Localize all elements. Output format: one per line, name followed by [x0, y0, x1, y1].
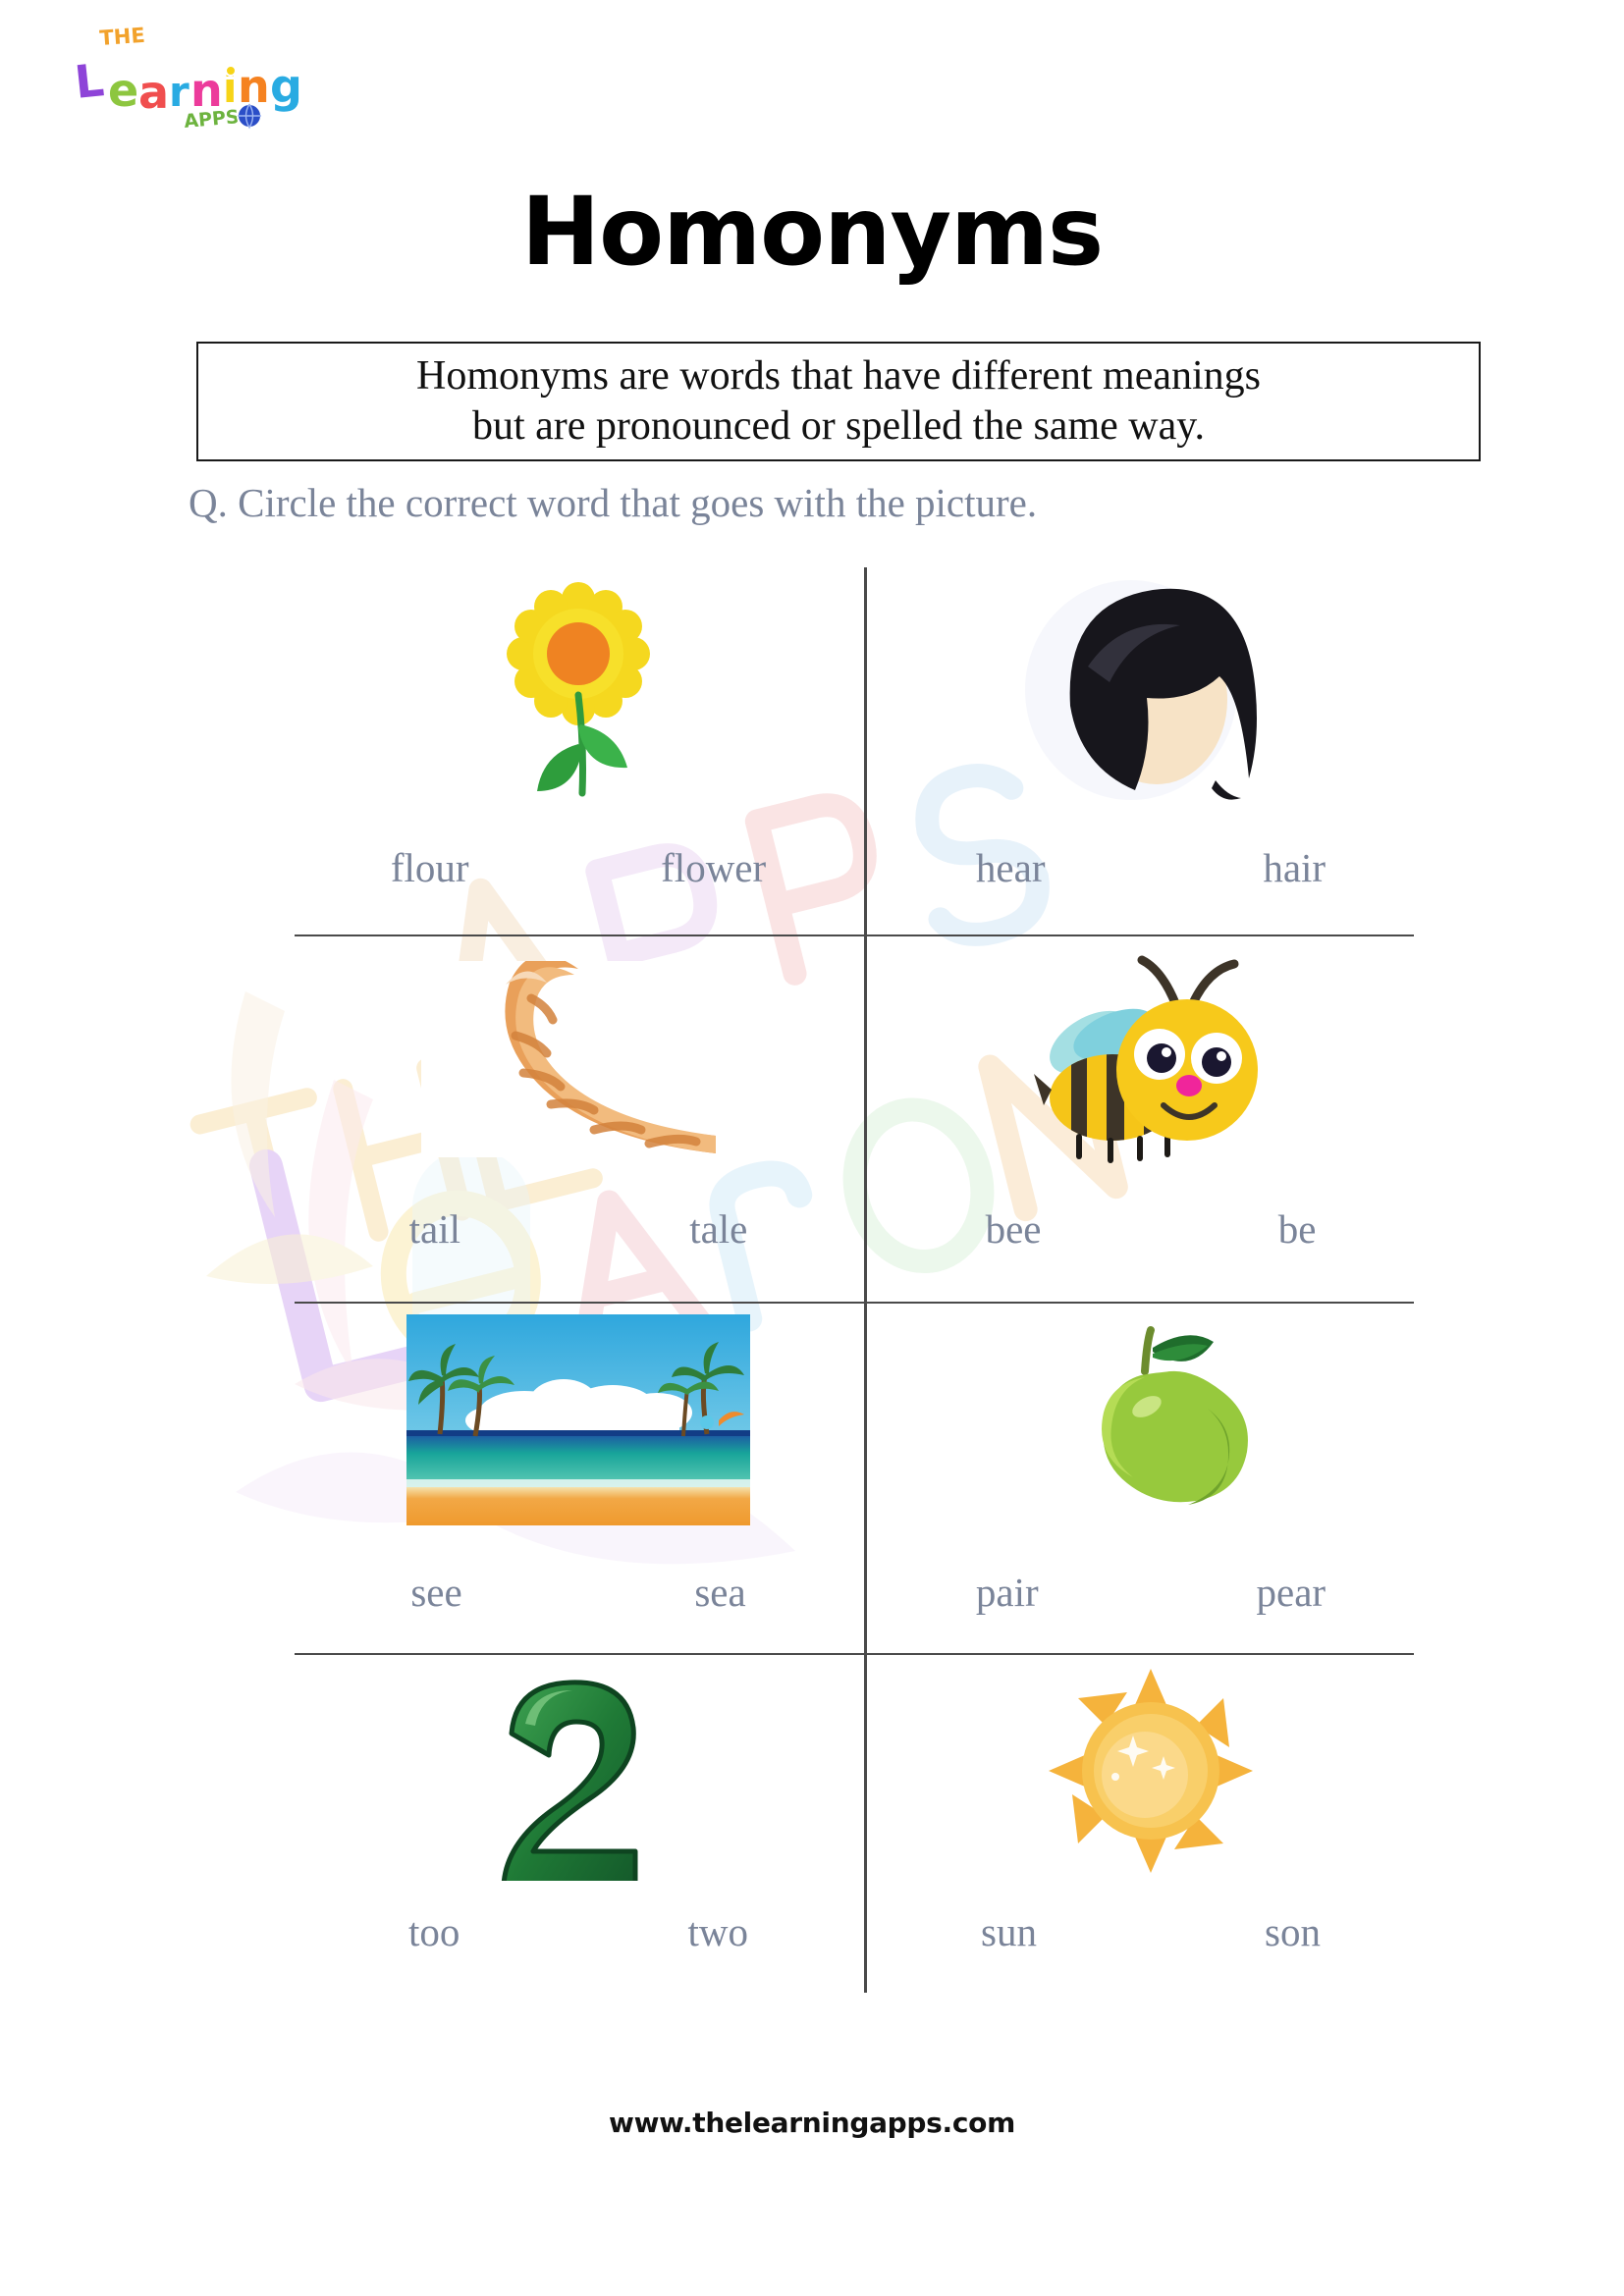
cell-word-options: too two: [295, 1906, 862, 1957]
svg-text:L: L: [73, 53, 107, 109]
word-option[interactable]: flour: [381, 842, 479, 893]
cell-artwork: [295, 942, 862, 1176]
tail-icon: [421, 961, 735, 1157]
logo-apps-text: APPS: [184, 106, 241, 133]
definition-line-1: Homonyms are words that have different m…: [416, 351, 1261, 401]
word-option[interactable]: sun: [971, 1906, 1047, 1957]
cell-word-options: see sea: [295, 1567, 862, 1618]
worksheet-cell-flower: flour flower: [295, 567, 862, 934]
pear-icon: [1043, 1314, 1259, 1525]
two-icon: [470, 1665, 686, 1881]
worksheet-cell-pear: pair pear: [867, 1304, 1435, 1653]
sea-icon: [406, 1314, 750, 1525]
app-logo: THE L e a r n i n g APPS: [71, 22, 355, 134]
word-option[interactable]: two: [677, 1906, 758, 1957]
worksheet-cell-bee: bee be: [867, 936, 1435, 1302]
cell-artwork: [295, 573, 862, 807]
worksheet-cell-sun: sun son: [867, 1655, 1435, 1993]
svg-text:g: g: [270, 60, 302, 113]
cell-word-options: flour flower: [295, 842, 862, 893]
word-option[interactable]: tail: [400, 1203, 470, 1255]
word-option[interactable]: pear: [1247, 1567, 1336, 1618]
worksheet-cell-sea: see sea: [295, 1304, 862, 1653]
cell-word-options: bee be: [867, 1203, 1435, 1255]
word-option[interactable]: flower: [651, 842, 776, 893]
cell-artwork: [295, 1661, 862, 1885]
cell-artwork: [867, 942, 1435, 1176]
cell-artwork: [295, 1309, 862, 1530]
word-option[interactable]: sea: [684, 1567, 755, 1618]
word-option[interactable]: see: [401, 1567, 471, 1618]
cell-artwork: [867, 573, 1435, 807]
word-option[interactable]: hear: [966, 842, 1056, 893]
page-title: Homonyms: [0, 185, 1624, 279]
worksheet-cell-two: too two: [295, 1655, 862, 1993]
svg-text:APPS: APPS: [184, 106, 241, 133]
instruction-text: Q. Circle the correct word that goes wit…: [189, 479, 1037, 526]
cell-word-options: pair pear: [867, 1567, 1435, 1618]
hair-icon: [1013, 574, 1288, 806]
svg-text:r: r: [169, 68, 189, 116]
word-option[interactable]: too: [399, 1906, 469, 1957]
definition-box: Homonyms are words that have different m…: [196, 342, 1481, 461]
worksheet-grid: flour flower hear hair: [295, 567, 1414, 1993]
bee-icon: [1028, 952, 1273, 1166]
footer-website[interactable]: www.thelearningapps.com: [0, 2107, 1624, 2139]
cell-artwork: [867, 1309, 1435, 1530]
word-option[interactable]: bee: [976, 1203, 1052, 1255]
word-option[interactable]: son: [1255, 1906, 1330, 1957]
word-option[interactable]: hair: [1253, 842, 1335, 893]
definition-line-2: but are pronounced or spelled the same w…: [472, 401, 1205, 452]
flower-icon: [490, 577, 667, 803]
svg-text:e: e: [108, 64, 138, 117]
worksheet-cell-hair: hear hair: [867, 567, 1435, 934]
cell-word-options: hear hair: [867, 842, 1435, 893]
cell-word-options: sun son: [867, 1906, 1435, 1957]
sun-icon: [1033, 1665, 1269, 1881]
logo-the-text: THE: [99, 24, 146, 50]
word-option[interactable]: tale: [679, 1203, 757, 1255]
svg-text:a: a: [138, 66, 169, 119]
cell-word-options: tail tale: [295, 1203, 862, 1255]
word-option[interactable]: pair: [966, 1567, 1049, 1618]
worksheet-cell-tail: tail tale: [295, 936, 862, 1302]
word-option[interactable]: be: [1269, 1203, 1326, 1255]
svg-text:THE: THE: [99, 24, 146, 50]
cell-artwork: [867, 1661, 1435, 1885]
